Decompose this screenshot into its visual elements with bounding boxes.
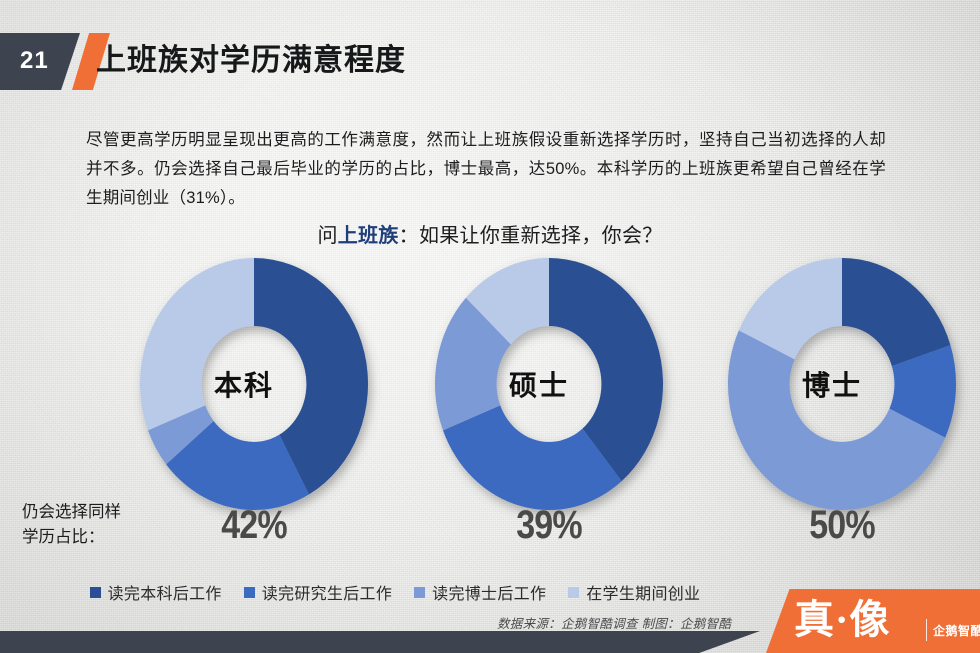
slide-header: 21 上班族对学历满意程度 [0,33,980,90]
brand-logo-mark: 真·像 [794,595,890,645]
donut-chart-row: 本科硕士博士 [0,258,980,510]
slide-root: 21 上班族对学历满意程度 尽管更高学历明显呈现出更高的工作满意度，然而让上班族… [0,0,980,653]
question-line: 问上班族：如果让你重新选择，你会？ [0,219,980,248]
question-suffix: ：如果让你重新选择，你会？ [399,225,663,247]
question-prefix: 问 [317,225,337,247]
donut-chart-博士: 博士 [718,258,966,510]
chart-legend: 读完本科后工作读完研究生后工作读完博士后工作在学生期间创业 [0,579,790,605]
percent-caption: 仍会选择同样学历占比： [22,500,192,550]
percent-value-硕士: 39% [464,503,634,548]
slide-number: 21 [20,47,49,75]
donut-rings [140,258,368,510]
donut-chart-硕士: 硕士 [425,258,673,510]
percent-caption-line: 学历占比： [22,525,192,550]
footer-dark-bar [0,631,760,653]
legend-label: 读完本科后工作 [108,580,222,604]
legend-label: 读完博士后工作 [432,580,546,604]
legend-swatch-icon [568,587,579,598]
body-paragraph: 尽管更高学历明显呈现出更高的工作满意度，然而让上班族假设重新选择学历时，坚持自己… [86,126,886,213]
legend-item[interactable]: 读完本科后工作 [90,580,222,604]
brand-logo-subtitle: 企鹅智酷出品 [933,622,980,639]
brand-logo-panel: 真·像 企鹅智酷出品 [766,589,980,653]
data-source-note: 数据来源：企鹅智酷调查 制图：企鹅智酷 [497,613,731,632]
question-highlight: 上班族 [338,225,399,247]
legend-item[interactable]: 在学生期间创业 [568,580,700,604]
legend-label: 读完研究生后工作 [262,580,392,604]
slide-number-badge: 21 [0,33,80,90]
legend-swatch-icon [244,587,255,598]
donut-rings [728,258,956,510]
legend-item[interactable]: 读完研究生后工作 [244,580,392,604]
percent-caption-line: 仍会选择同样 [22,500,192,525]
page-title: 上班族对学历满意程度 [96,35,406,79]
donut-segment [842,258,950,366]
donut-rings [435,258,663,510]
legend-item[interactable]: 读完博士后工作 [414,580,546,604]
donut-chart-本科: 本科 [130,258,378,510]
donut-segment [140,258,254,430]
legend-swatch-icon [90,587,101,598]
legend-swatch-icon [414,587,425,598]
percent-value-本科: 42% [169,503,339,548]
logo-divider [926,619,927,641]
legend-label: 在学生期间创业 [586,580,700,604]
percent-row: 仍会选择同样学历占比： 42%39%50% [0,498,980,560]
percent-value-博士: 50% [757,503,927,548]
